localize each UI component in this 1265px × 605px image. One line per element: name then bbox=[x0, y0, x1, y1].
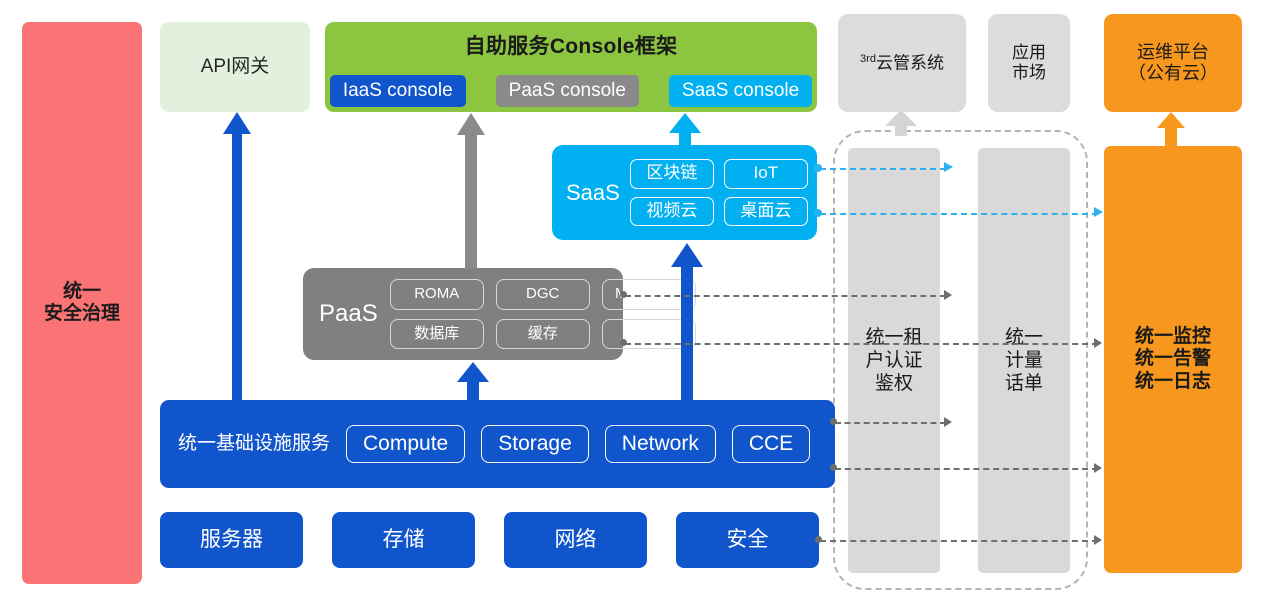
hardware-label-server: 服务器 bbox=[200, 528, 263, 553]
iaas-label: 统一基础设施服务 bbox=[178, 433, 330, 455]
hardware-box-storage[interactable]: 存储 bbox=[332, 512, 475, 568]
arrow-iaas-to-api-gateway bbox=[222, 112, 252, 402]
arrowhead-iaas-to-auth bbox=[944, 417, 952, 427]
third-party-rest: 云管系统 bbox=[876, 53, 944, 72]
third-party-superscript: 3rd bbox=[860, 53, 876, 65]
arrowhead-saas-to-ops bbox=[1094, 207, 1103, 217]
unified-infrastructure-bar: 统一基础设施服务 Compute Storage Network CCE bbox=[160, 400, 835, 488]
paas-pill-database[interactable]: 数据库 bbox=[390, 319, 484, 350]
console-frame-title: 自助服务Console框架 bbox=[465, 35, 678, 60]
api-gateway-box[interactable]: API网关 bbox=[160, 22, 310, 112]
arrowhead-paas-to-auth bbox=[944, 290, 952, 300]
ops-panel-line1: 统一监控 bbox=[1135, 326, 1211, 348]
app-market-box[interactable]: 应用 市场 bbox=[988, 14, 1070, 112]
billing-line2: 计量 bbox=[1005, 349, 1043, 372]
auth-line3: 鉴权 bbox=[865, 372, 922, 395]
billing-line1: 统一 bbox=[1005, 326, 1043, 349]
api-gateway-label: API网关 bbox=[201, 56, 270, 78]
hardware-label-network: 网络 bbox=[555, 528, 597, 553]
saas-pill-blockchain[interactable]: 区块链 bbox=[630, 159, 714, 189]
hardware-box-security[interactable]: 安全 bbox=[676, 512, 819, 568]
security-panel-line1: 统一 bbox=[63, 281, 101, 303]
paas-label: PaaS bbox=[319, 300, 378, 328]
app-market-line2: 市场 bbox=[1012, 63, 1046, 83]
ops-platform-line2: （公有云） bbox=[1128, 63, 1218, 84]
unified-monitoring-panel: 统一监控 统一告警 统一日志 bbox=[1104, 146, 1242, 573]
architecture-diagram: 统一 安全治理 API网关 自助服务Console框架 IaaS console… bbox=[0, 0, 1265, 605]
console-chip-row: IaaS console PaaS console SaaS console bbox=[330, 75, 812, 107]
billing-line3: 话单 bbox=[1005, 372, 1043, 395]
chip-iaas-console[interactable]: IaaS console bbox=[330, 75, 466, 107]
dashed-hardware-to-ops bbox=[820, 540, 1098, 542]
unified-tenant-auth-column[interactable]: 统一租 户认证 鉴权 bbox=[848, 148, 940, 573]
ops-platform-box[interactable]: 运维平台 （公有云） bbox=[1104, 14, 1242, 112]
chip-paas-console[interactable]: PaaS console bbox=[496, 75, 639, 107]
iaas-pill-storage[interactable]: Storage bbox=[481, 425, 589, 463]
self-service-console-frame: 自助服务Console框架 IaaS console PaaS console … bbox=[325, 22, 817, 112]
app-market-line1: 应用 bbox=[1012, 43, 1046, 63]
saas-pill-desktop-cloud[interactable]: 桌面云 bbox=[724, 197, 808, 227]
saas-pill-video-cloud[interactable]: 视频云 bbox=[630, 197, 714, 227]
arrow-shared-to-third-party bbox=[884, 110, 918, 136]
arrowhead-saas-to-auth bbox=[944, 162, 953, 172]
hardware-label-storage: 存储 bbox=[383, 528, 425, 553]
auth-line1: 统一租 bbox=[865, 326, 922, 349]
unified-security-governance-panel: 统一 安全治理 bbox=[22, 22, 142, 584]
saas-block: SaaS 区块链 IoT 视频云 桌面云 bbox=[552, 145, 817, 240]
arrowhead-paas-to-ops bbox=[1094, 338, 1102, 348]
third-party-cloud-mgmt-box[interactable]: 3rd云管系统 bbox=[838, 14, 966, 112]
saas-pill-iot[interactable]: IoT bbox=[724, 159, 808, 189]
iaas-pill-compute[interactable]: Compute bbox=[346, 425, 465, 463]
unified-tenant-auth-label: 统一租 户认证 鉴权 bbox=[865, 326, 922, 396]
hardware-box-network[interactable]: 网络 bbox=[504, 512, 647, 568]
arrowhead-iaas-to-ops bbox=[1094, 463, 1102, 473]
ops-panel-line2: 统一告警 bbox=[1135, 348, 1211, 370]
hardware-box-server[interactable]: 服务器 bbox=[160, 512, 303, 568]
dashed-saas-to-ops bbox=[820, 213, 1098, 215]
paas-pill-cache[interactable]: 缓存 bbox=[496, 319, 590, 350]
paas-block: PaaS ROMA DGC ModelArts 数据库 缓存 大数据 bbox=[303, 268, 623, 360]
dashed-saas-to-auth bbox=[820, 168, 946, 170]
ops-panel-line3: 统一日志 bbox=[1135, 371, 1211, 393]
ops-platform-line1: 运维平台 bbox=[1137, 42, 1209, 63]
dashed-paas-to-ops bbox=[625, 343, 1098, 345]
chip-saas-console[interactable]: SaaS console bbox=[669, 75, 812, 107]
security-panel-line2: 安全治理 bbox=[44, 303, 120, 325]
arrow-saas-to-saas-console bbox=[668, 113, 702, 147]
saas-pill-grid: 区块链 IoT 视频云 桌面云 bbox=[630, 159, 808, 226]
arrow-paas-to-console bbox=[456, 113, 486, 269]
paas-pill-grid: ROMA DGC ModelArts 数据库 缓存 大数据 bbox=[390, 279, 696, 349]
hardware-label-security: 安全 bbox=[727, 528, 769, 553]
iaas-pill-network[interactable]: Network bbox=[605, 425, 716, 463]
arrow-iaas-to-saas bbox=[670, 243, 704, 401]
saas-label: SaaS bbox=[566, 180, 620, 206]
arrow-shared-to-ops-platform bbox=[1156, 112, 1186, 146]
arrowhead-hardware-to-ops bbox=[1094, 535, 1102, 545]
unified-metering-billing-label: 统一 计量 话单 bbox=[1005, 326, 1043, 396]
third-party-cloud-mgmt-label: 3rd云管系统 bbox=[860, 53, 944, 74]
paas-pill-roma[interactable]: ROMA bbox=[390, 279, 484, 310]
auth-line2: 户认证 bbox=[865, 349, 922, 372]
iaas-pill-cce[interactable]: CCE bbox=[732, 425, 810, 463]
dashed-iaas-to-auth bbox=[835, 422, 946, 424]
dashed-iaas-to-ops bbox=[835, 468, 1098, 470]
dashed-paas-to-auth bbox=[625, 295, 946, 297]
unified-metering-billing-column[interactable]: 统一 计量 话单 bbox=[978, 148, 1070, 573]
arrow-iaas-to-paas bbox=[456, 362, 490, 402]
paas-pill-dgc[interactable]: DGC bbox=[496, 279, 590, 310]
